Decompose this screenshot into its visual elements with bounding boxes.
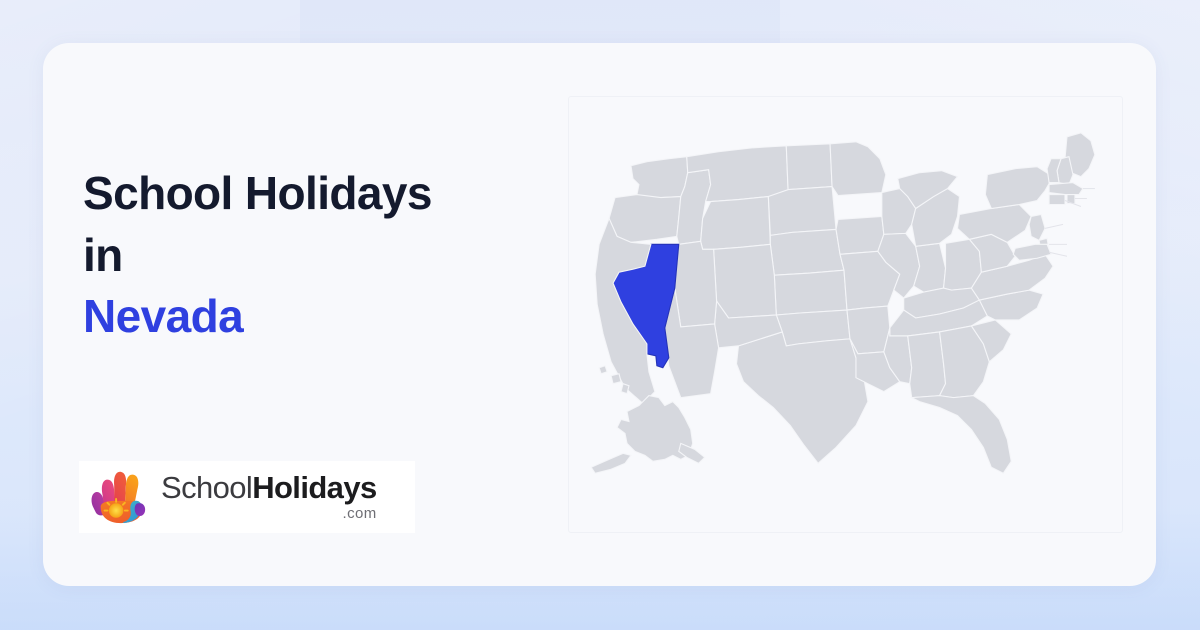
state-massachusetts — [1049, 183, 1083, 195]
headline-state-name: Nevada — [83, 286, 553, 348]
leader-line-new-jersey — [1045, 224, 1063, 228]
us-map-panel[interactable] — [568, 96, 1123, 533]
state-hawaii-island-3 — [621, 384, 629, 394]
map-states-group — [591, 133, 1095, 473]
state-oregon — [609, 195, 681, 243]
state-texas — [737, 332, 868, 463]
logo-wordmark: SchoolHolidays .com — [161, 472, 377, 523]
state-south-dakota — [768, 187, 836, 236]
state-iowa — [836, 216, 884, 254]
logo-word-school: School — [161, 470, 252, 505]
headline-line-2: in — [83, 225, 553, 287]
state-hawaii-island-1 — [599, 366, 607, 374]
state-new-jersey — [1029, 214, 1045, 240]
us-map-svg — [569, 97, 1122, 532]
state-florida — [912, 396, 1012, 474]
state-new-york — [985, 167, 1053, 209]
state-connecticut — [1049, 195, 1065, 205]
state-nebraska — [770, 229, 844, 275]
headline-block: School Holidays in Nevada — [83, 163, 553, 348]
logo-tld: .com — [161, 506, 377, 521]
logo-word-holidays: Holidays — [252, 470, 376, 505]
state-washington — [631, 157, 688, 199]
state-wyoming — [701, 197, 771, 250]
headline-line-1: School Holidays — [83, 163, 553, 225]
state-hawaii-island-2 — [611, 374, 621, 384]
state-kansas — [774, 270, 847, 315]
state-colorado — [714, 244, 777, 318]
main-card: School Holidays in Nevada — [43, 43, 1156, 586]
state-alabama — [908, 332, 946, 398]
page-title: School Holidays in Nevada — [83, 163, 553, 348]
state-alaska-aleutians — [591, 453, 631, 473]
colorful-hand-icon — [89, 468, 151, 526]
state-minnesota — [830, 142, 886, 196]
state-utah — [675, 241, 717, 327]
leader-line-maryland — [1049, 252, 1067, 256]
site-logo[interactable]: SchoolHolidays .com — [79, 461, 415, 533]
